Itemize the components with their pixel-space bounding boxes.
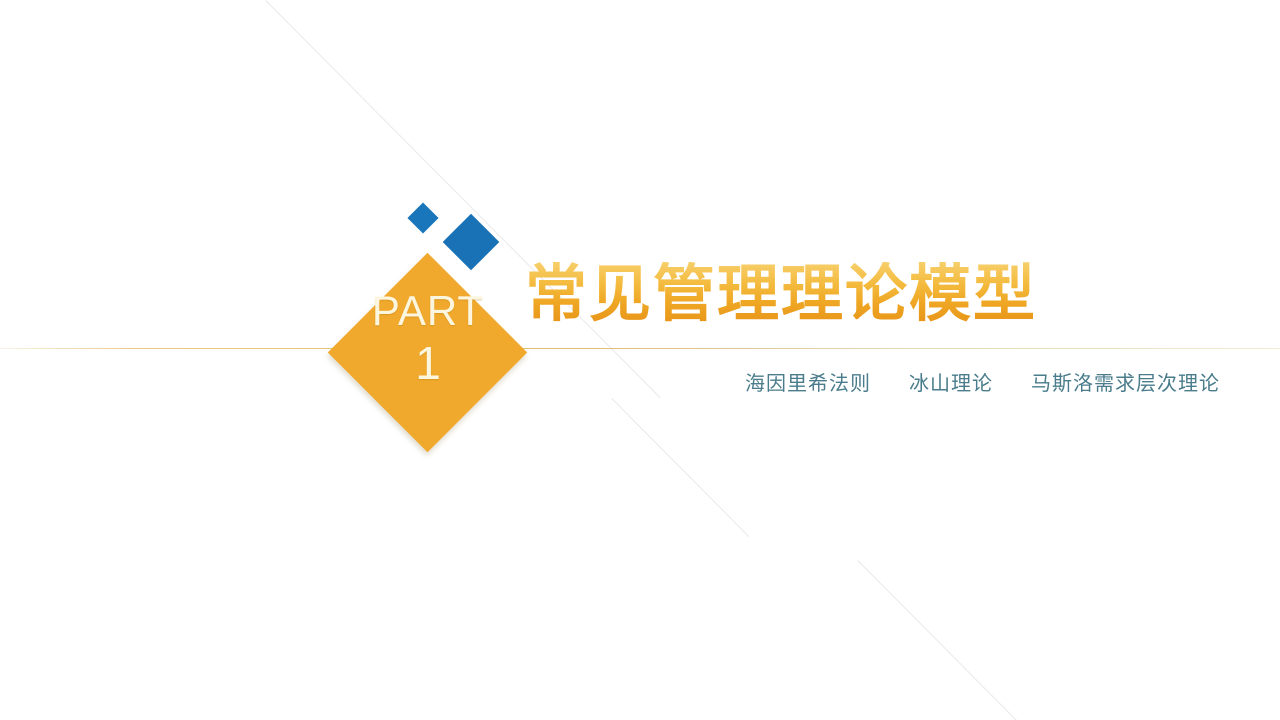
subtitle-item-3: 马斯洛需求层次理论 bbox=[1031, 372, 1220, 396]
section-marker: PART 1 bbox=[328, 290, 528, 386]
subtitle-item-2: 冰山理论 bbox=[909, 372, 993, 396]
gold-horizontal-rule bbox=[0, 348, 1280, 349]
part-number: 1 bbox=[328, 340, 528, 386]
blue-diamond-large-icon bbox=[443, 214, 500, 271]
subtitle-topic-list: 海因里希法则 冰山理论 马斯洛需求层次理论 bbox=[745, 372, 1220, 396]
diagonal-line-icon bbox=[857, 560, 1027, 720]
diagonal-line-icon bbox=[611, 398, 749, 537]
subtitle-item-1: 海因里希法则 bbox=[745, 372, 871, 396]
page-title: 常见管理理论模型 bbox=[525, 262, 1037, 327]
blue-diamond-small-icon bbox=[407, 202, 438, 233]
slide-canvas: PART 1 常见管理理论模型 海因里希法则 冰山理论 马斯洛需求层次理论 bbox=[0, 0, 1280, 720]
part-label: PART bbox=[328, 290, 528, 332]
background-decoration-layer bbox=[0, 0, 1280, 720]
